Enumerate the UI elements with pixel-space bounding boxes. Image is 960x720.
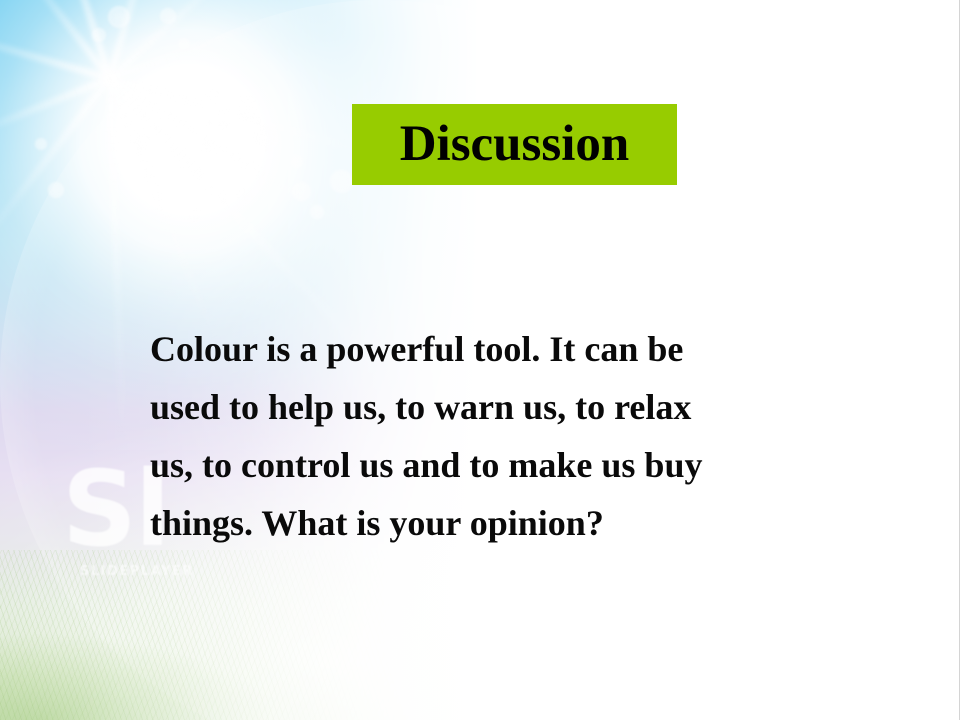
bokeh-circle (35, 138, 47, 150)
body-line: us, to control us and to make us buy (150, 436, 830, 494)
bokeh-circle (252, 124, 279, 151)
bokeh-circle (178, 38, 190, 50)
bokeh-circle (206, 88, 219, 101)
body-line: used to help us, to warn us, to relax (150, 378, 830, 436)
bokeh-circle (92, 28, 106, 42)
bokeh-circle (236, 96, 260, 120)
bokeh-circle (186, 208, 202, 224)
grass-texture (0, 550, 420, 720)
bokeh-circle (134, 132, 152, 150)
body-line: things. What is your opinion? (150, 494, 830, 552)
body-line: Colour is a powerful tool. It can be (150, 320, 830, 378)
bokeh-circle (160, 8, 176, 24)
bokeh-circle (236, 186, 253, 203)
bokeh-circle (108, 6, 130, 28)
bokeh-circle (48, 182, 64, 198)
title-plaque: Discussion (352, 104, 677, 185)
bokeh-circle (330, 170, 353, 193)
bokeh-circle (256, 176, 266, 186)
bokeh-circle (292, 182, 311, 201)
bokeh-circle (290, 155, 303, 168)
body-text-block: Colour is a powerful tool. It can be use… (150, 320, 830, 552)
slide-canvas: Sl SLIDEPLAYER Discussion Colour is a po… (0, 0, 960, 720)
bokeh-circle (218, 120, 229, 131)
bokeh-circle (310, 205, 324, 219)
bokeh-circle (199, 137, 214, 152)
bokeh-circle (205, 118, 214, 127)
page-title: Discussion (400, 119, 630, 170)
